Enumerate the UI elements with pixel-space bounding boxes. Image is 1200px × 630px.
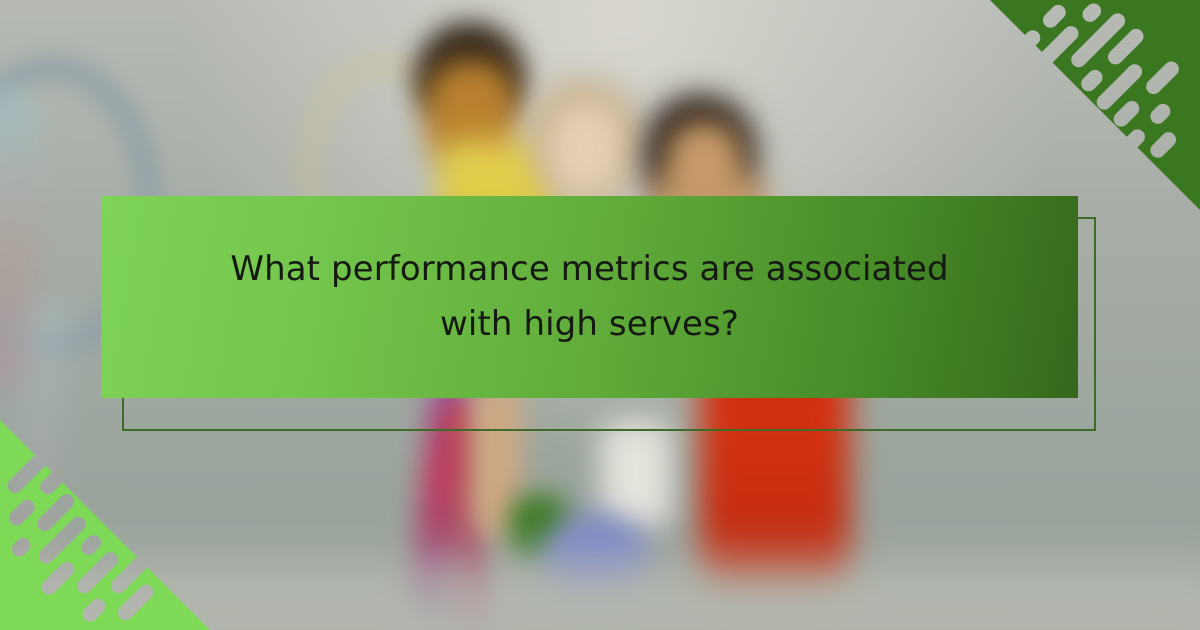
floor-highlight [0, 560, 1200, 630]
child-face-blonde [548, 100, 624, 196]
question-card: What performance metrics are associated … [101, 196, 1078, 398]
page-canvas: What performance metrics are associated … [0, 0, 1200, 630]
child-sock-white [600, 420, 672, 530]
question-text: What performance metrics are associated … [210, 242, 970, 352]
